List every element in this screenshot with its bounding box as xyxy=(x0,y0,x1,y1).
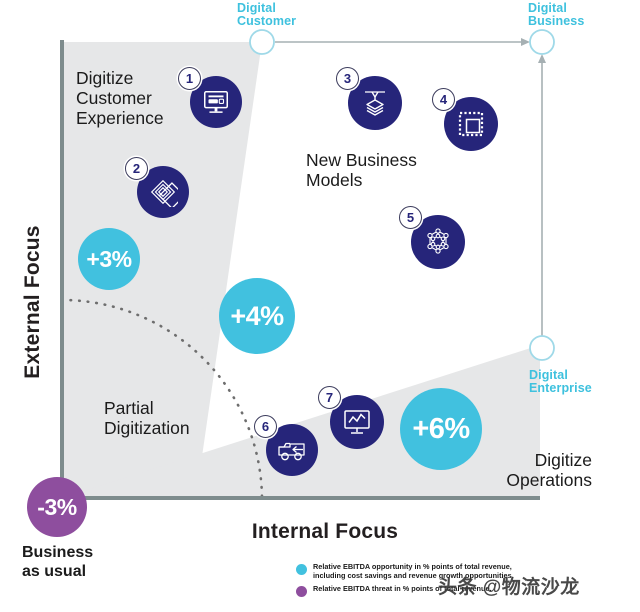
initiative-1-number: 1 xyxy=(178,67,201,90)
arrowhead-to-business-horizontal xyxy=(521,38,530,46)
molecular-network-icon xyxy=(422,226,454,258)
initiative-7-number: 7 xyxy=(318,386,341,409)
quadrant-title-nbm-line2: Models xyxy=(306,170,466,190)
value-bubble-plus-6[interactable]: +6% xyxy=(400,388,482,470)
quadrant-title-new-business-models: New Business Models xyxy=(306,150,466,190)
nested-diamonds-icon xyxy=(148,177,178,207)
quadrant-title-partial-digitization: Partial Digitization xyxy=(104,398,254,438)
quadrant-title-pd-line2: Digitization xyxy=(104,418,254,438)
node-label-digital-customer-line2: Customer xyxy=(237,15,296,28)
node-label-digital-business: Digital Business xyxy=(528,2,584,28)
quadrant-title-nbm-line1: New Business xyxy=(306,150,466,170)
initiative-7[interactable]: 7 xyxy=(330,395,384,449)
initiative-4[interactable]: 4 xyxy=(444,97,498,151)
quadrant-title-dce-line2: Customer xyxy=(76,88,206,108)
initiative-3-number: 3 xyxy=(336,67,359,90)
legend-threat-dot xyxy=(296,586,307,597)
corner-caption-line2: as usual xyxy=(22,562,142,581)
initiative-1[interactable]: 1 xyxy=(190,76,242,128)
initiative-2[interactable]: 2 xyxy=(137,166,189,218)
node-digital-customer-circle[interactable] xyxy=(250,30,274,54)
initiative-2-number: 2 xyxy=(125,157,148,180)
initiative-3[interactable]: 3 xyxy=(348,76,402,130)
initiative-6-number: 6 xyxy=(254,415,277,438)
y-axis-label: External Focus xyxy=(21,222,45,382)
delivery-truck-icon xyxy=(276,434,308,466)
corner-caption-business-as-usual: Business as usual xyxy=(22,543,142,581)
initiative-5[interactable]: 5 xyxy=(411,215,465,269)
quadrant-title-do-line2: Operations xyxy=(432,470,592,490)
quadrant-title-pd-line1: Partial xyxy=(104,398,254,418)
initiative-5-number: 5 xyxy=(399,206,422,229)
node-digital-business-circle[interactable] xyxy=(530,30,554,54)
value-bubble-minus-3[interactable]: -3% xyxy=(27,477,87,537)
corner-caption-line1: Business xyxy=(22,543,142,562)
value-bubble-plus-4[interactable]: +4% xyxy=(219,278,295,354)
diagram-canvas: External Focus Internal Focus Digital Cu… xyxy=(0,0,640,612)
initiative-6[interactable]: 6 xyxy=(266,424,318,476)
x-axis-label: Internal Focus xyxy=(185,520,465,544)
dashed-frame-square-icon xyxy=(455,108,487,140)
node-label-digital-enterprise-line2: Enterprise xyxy=(529,382,592,395)
initiative-4-number: 4 xyxy=(432,88,455,111)
node-label-digital-business-line2: Business xyxy=(528,15,584,28)
monitor-analytics-icon xyxy=(341,406,373,438)
node-label-digital-customer: Digital Customer xyxy=(237,2,296,28)
value-bubble-plus-3[interactable]: +3% xyxy=(78,228,140,290)
3d-printer-icon xyxy=(359,87,391,119)
monitor-screen-icon xyxy=(201,87,231,117)
arrowhead-to-business-vertical xyxy=(538,54,546,63)
legend-opportunity-dot xyxy=(296,564,307,575)
node-label-digital-enterprise: Digital Enterprise xyxy=(529,369,592,395)
watermark: 头条 @物流沙龙 xyxy=(438,572,580,599)
quadrant-title-dce-line3: Experience xyxy=(76,108,206,128)
node-digital-enterprise-circle[interactable] xyxy=(530,336,554,360)
